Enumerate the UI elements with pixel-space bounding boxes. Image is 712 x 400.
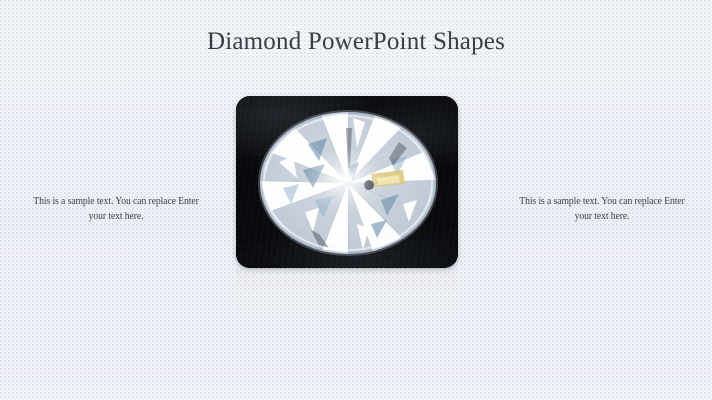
body-text-left[interactable]: This is a sample text. You can replace E… bbox=[30, 194, 202, 224]
page-title: Diamond PowerPoint Shapes bbox=[0, 28, 712, 56]
photo-reflection bbox=[236, 269, 458, 319]
diamond-photo[interactable] bbox=[236, 96, 458, 268]
diamond-icon bbox=[253, 108, 443, 258]
slide-canvas: Diamond PowerPoint Shapes This is a samp… bbox=[0, 0, 712, 400]
body-text-right[interactable]: This is a sample text. You can replace E… bbox=[516, 194, 688, 224]
